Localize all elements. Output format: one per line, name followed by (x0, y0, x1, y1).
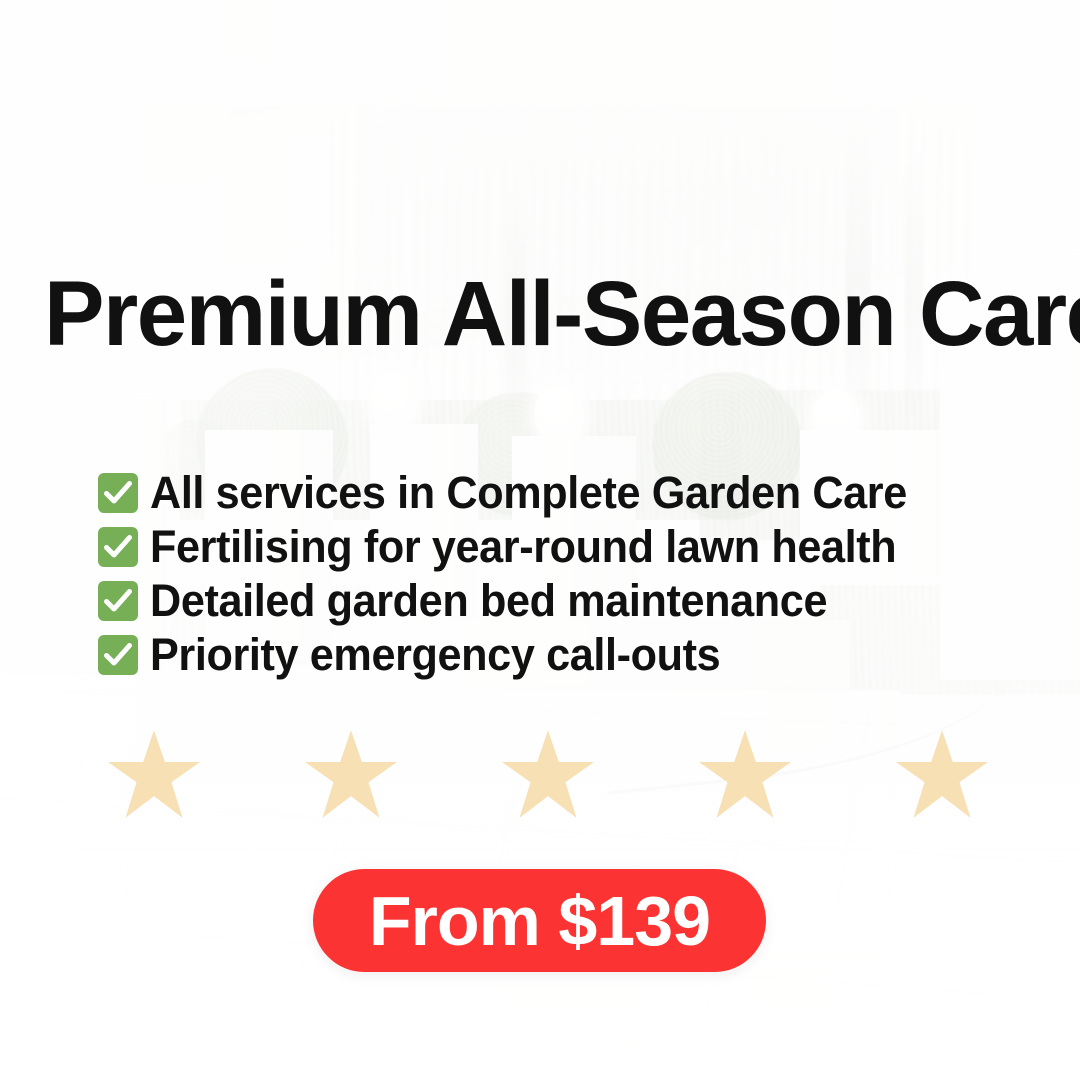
star-icon (108, 730, 200, 818)
list-item-label: Detailed garden bed maintenance (150, 577, 827, 625)
list-item: Fertilising for year-round lawn health (98, 520, 998, 574)
list-item: Detailed garden bed maintenance (98, 574, 998, 628)
price-badge-label: From $139 (369, 886, 710, 956)
list-item-label: Fertilising for year-round lawn health (150, 523, 896, 571)
list-item-label: All services in Complete Garden Care (150, 469, 907, 517)
feature-list: All services in Complete Garden Care Fer… (98, 466, 998, 682)
star-icon (305, 730, 397, 818)
star-icon (896, 730, 988, 818)
rating-stars (108, 730, 978, 818)
page-title: Premium All-Season Care (44, 266, 1029, 362)
check-mark-icon (98, 473, 138, 513)
list-item-label: Priority emergency call-outs (150, 631, 720, 679)
star-icon (502, 730, 594, 818)
price-badge[interactable]: From $139 (313, 869, 766, 972)
list-item: Priority emergency call-outs (98, 628, 998, 682)
list-item: All services in Complete Garden Care (98, 466, 998, 520)
star-icon (699, 730, 791, 818)
poster-content: Premium All-Season Care All services in … (0, 0, 1080, 1080)
check-mark-icon (98, 635, 138, 675)
promo-poster: Premium All-Season Care All services in … (0, 0, 1080, 1080)
check-mark-icon (98, 581, 138, 621)
check-mark-icon (98, 527, 138, 567)
